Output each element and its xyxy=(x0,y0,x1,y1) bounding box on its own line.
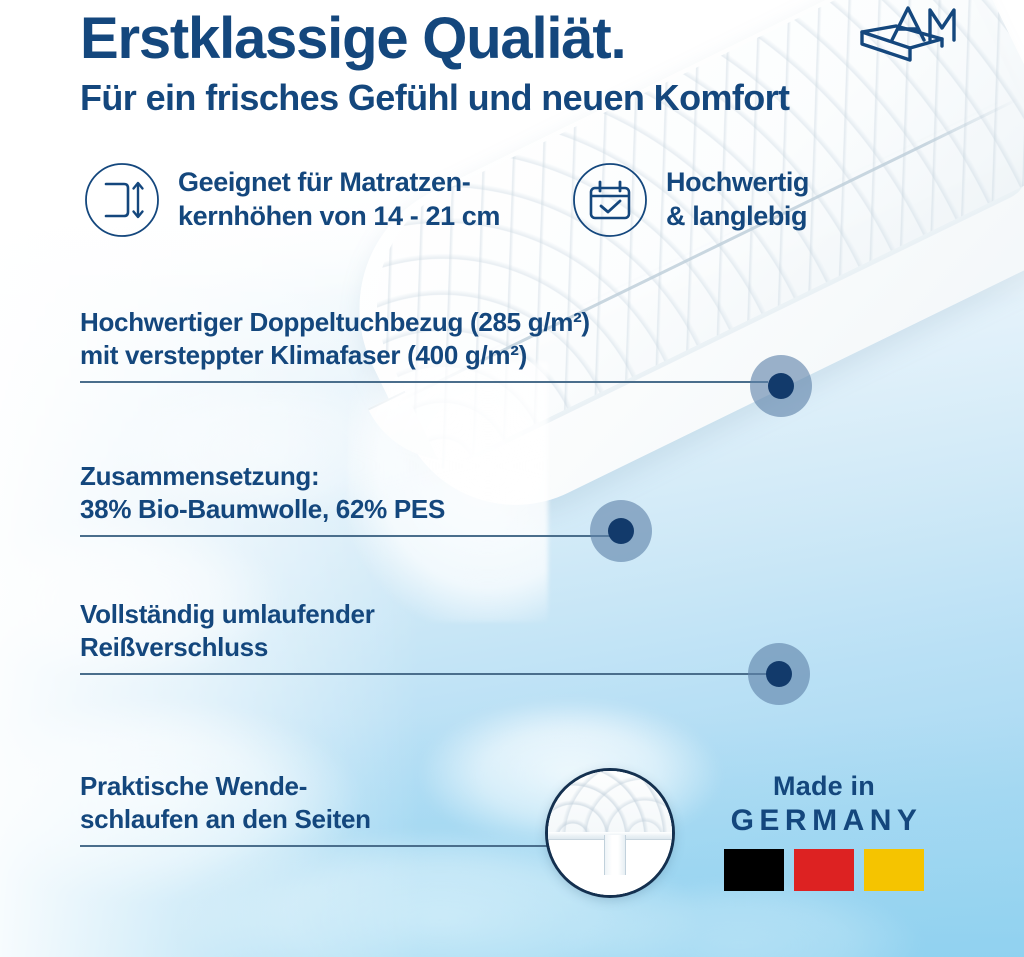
mattress-height-arrow-icon xyxy=(84,162,160,238)
page-subtitle: Für ein frisches Gefühl und neuen Komfor… xyxy=(80,78,789,118)
callout-turning-loops: Praktische Wende- schlaufen an den Seite… xyxy=(80,770,550,847)
product-infographic: Erstklassige Qualiät. Für ein frisches G… xyxy=(0,0,1024,957)
am-logo xyxy=(856,4,966,78)
flag-stripe-red xyxy=(794,849,854,891)
callout-marker-dot xyxy=(748,643,810,705)
page-title: Erstklassige Qualiät. xyxy=(80,8,625,71)
callout-marker-dot xyxy=(590,500,652,562)
calendar-check-icon xyxy=(572,162,648,238)
callout-leader-line xyxy=(80,381,768,383)
callout-composition: Zusammensetzung: 38% Bio-Baumwolle, 62% … xyxy=(80,460,610,537)
callout-leader-line xyxy=(80,845,550,847)
callout-turning-loops-label: Praktische Wende- schlaufen an den Seite… xyxy=(80,770,550,837)
callout-leader-line xyxy=(80,673,770,675)
badge-core-height: Geeignet für Matratzen- kernhöhen von 14… xyxy=(84,162,500,238)
country-label: GERMANY xyxy=(718,802,930,840)
marker-core xyxy=(766,661,792,687)
flag-stripe-black xyxy=(724,849,784,891)
badge-quality-durability: Hochwertig & langlebig xyxy=(572,162,809,238)
callout-marker-dot xyxy=(750,355,812,417)
callout-leader-line xyxy=(80,535,610,537)
callout-zipper: Vollständig umlaufender Reißverschluss xyxy=(80,598,770,675)
callout-cover-fabric-label: Hochwertiger Doppeltuchbezug (285 g/m²) … xyxy=(80,306,768,373)
turning-loop-zoom-inset xyxy=(545,768,675,898)
made-in-germany-badge: Made in GERMANY xyxy=(718,772,930,891)
badge-core-height-label: Geeignet für Matratzen- kernhöhen von 14… xyxy=(178,166,500,234)
callout-composition-label: Zusammensetzung: 38% Bio-Baumwolle, 62% … xyxy=(80,460,610,527)
marker-core xyxy=(608,518,634,544)
german-flag xyxy=(718,849,930,891)
marker-core xyxy=(768,373,794,399)
badge-quality-durability-label: Hochwertig & langlebig xyxy=(666,166,809,234)
inset-base xyxy=(548,875,672,895)
flag-stripe-yellow xyxy=(864,849,924,891)
callout-zipper-label: Vollständig umlaufender Reißverschluss xyxy=(80,598,770,665)
callout-cover-fabric: Hochwertiger Doppeltuchbezug (285 g/m²) … xyxy=(80,306,768,383)
inset-quilting xyxy=(548,771,672,838)
made-in-label: Made in xyxy=(718,772,930,802)
